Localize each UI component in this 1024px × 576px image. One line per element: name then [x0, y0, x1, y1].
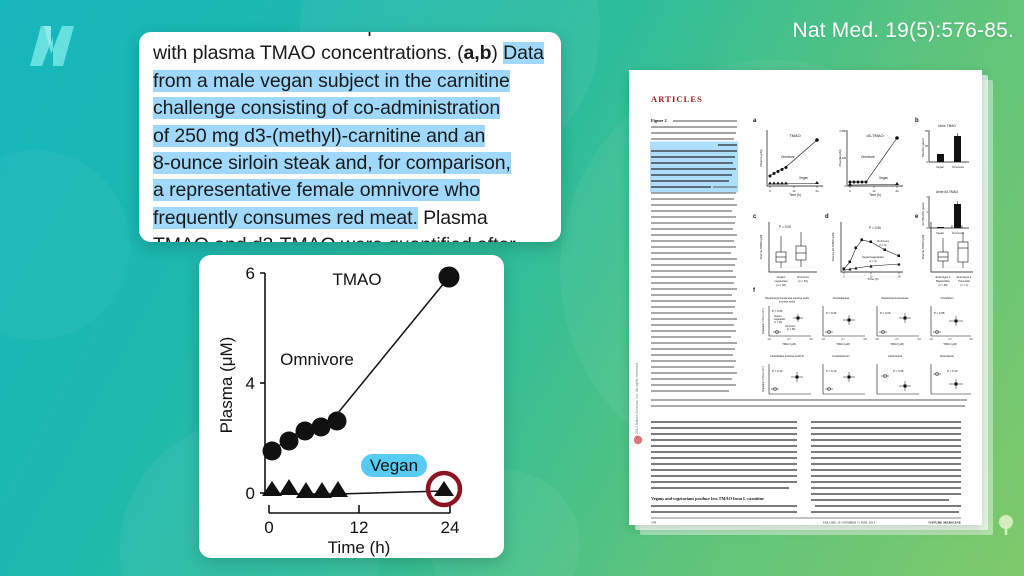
caption-text-lines-cont [651, 187, 737, 391]
bar-title: Urine TMAO [938, 124, 956, 128]
taxon-label: Clostridiales incertae sedis XI [770, 354, 804, 358]
svg-text:Bacteroides: Bacteroides [936, 279, 950, 283]
y-axis [260, 273, 265, 493]
data-point [328, 412, 347, 431]
subplot-title: TMAO [789, 133, 801, 138]
svg-text:24: 24 [898, 275, 901, 279]
svg-text:Vegan: Vegan [936, 231, 944, 235]
caption-text-lines [651, 121, 737, 139]
panel-c: c Plasma TMAO (μM) P = 0.05 Vegan/vegeta… [753, 214, 817, 287]
data-point [296, 422, 315, 441]
svg-text:Prevotella: Prevotella [958, 279, 970, 283]
x-tick: 0 [264, 518, 273, 537]
panel-label-a: a [753, 118, 757, 124]
svg-text:(n = 26): (n = 26) [776, 283, 786, 287]
x-tick: 24 [441, 518, 460, 537]
svg-text:Omnivore: Omnivore [952, 231, 965, 235]
x-tick: 12 [350, 518, 369, 537]
p-value: P = 0.08 [934, 311, 945, 315]
caption-line: of 250 mg d3-(methyl)-carnitine and an [153, 123, 547, 150]
panel-label-b: b [915, 118, 919, 124]
slide-canvas: Nat Med. 19(5):576-85. and fecal microbi… [0, 0, 1024, 576]
x-axis-label: Time (h) [328, 538, 391, 557]
taxon-label: Peptostreptococcaceae incertae sedis [765, 296, 810, 300]
svg-text:0.125: 0.125 [840, 156, 847, 160]
y-label: Plasma (µM) [759, 149, 763, 166]
zoomed-caption-text: and fecal microbiota composition associa… [139, 32, 561, 242]
body-column-right [811, 422, 961, 512]
taxon-label: Clostridiaceae [833, 296, 850, 300]
x-label: Time (h) [789, 193, 801, 197]
publisher-seal-icon [634, 436, 642, 444]
y-tick: 0 [246, 484, 255, 503]
x-tick-labels: 0 12 24 [264, 518, 459, 537]
y-tick: 6 [246, 264, 255, 283]
svg-text:2: 2 [927, 195, 929, 199]
svg-text:Enterotype 1: Enterotype 1 [936, 275, 951, 279]
figure-label: Figure 2 [651, 118, 667, 123]
data-point-highlighted [434, 481, 454, 496]
series-label-omnivore: Omnivore [781, 155, 795, 159]
caption-highlight [650, 142, 738, 193]
y-label: Plasma TMAO (μM) [759, 235, 763, 260]
panel-d: d Plasma d3-TMAO (µM) Time (h) P = 0.06 [825, 214, 903, 281]
taxon-label: Lachnospira [888, 354, 903, 358]
svg-text:0: 0 [927, 160, 929, 164]
svg-text:0: 0 [927, 226, 929, 230]
svg-text:(n = 51): (n = 51) [798, 279, 808, 283]
svg-text:3.6: 3.6 [917, 338, 921, 341]
svg-text:24: 24 [895, 189, 899, 193]
tree-icon [996, 513, 1016, 537]
p-value: P = 0.05 [779, 225, 791, 229]
y-label: Plasma TMAO (μM) [921, 235, 925, 260]
svg-text:(n = 68): (n = 68) [938, 283, 947, 287]
svg-text:Plasma d3-TMAO (µM): Plasma d3-TMAO (µM) [831, 233, 835, 262]
p-value: P = 0.13 [772, 369, 783, 373]
vegan-label: Vegan [370, 456, 418, 475]
data-point [280, 432, 299, 451]
svg-text:0: 0 [769, 189, 771, 193]
footer-journal: NATURE MEDICINE [928, 521, 961, 525]
panel-label-d: d [825, 214, 829, 220]
y-tick: 4 [246, 374, 255, 393]
bar-title: Urine d3-TMAO [936, 190, 959, 194]
p-value: P = 0.06 [893, 369, 904, 373]
caption-line: challenge consisting of co-administratio… [153, 95, 547, 122]
svg-text:24: 24 [815, 189, 819, 193]
svg-text:0: 0 [843, 275, 845, 279]
vegan-markers [262, 479, 454, 498]
x-label: TMAO (μM) [943, 342, 957, 346]
x-axis [269, 505, 450, 513]
svg-text:50: 50 [925, 129, 928, 133]
axes [847, 130, 903, 186]
svg-text:Omnivore: Omnivore [861, 155, 875, 159]
decorative-circle [0, 150, 130, 340]
svg-text:Proportion OTUs (×10⁻²): Proportion OTUs (×10⁻²) [762, 366, 765, 393]
x-label: TMAO (μM) [890, 342, 904, 346]
x-label: Time (h) [869, 193, 881, 197]
journal-page-content: ARTICLES © 2013 Nature America, Inc. All… [629, 70, 982, 525]
x-label: TMAO (μM) [836, 342, 850, 346]
tmao-line-chart: 6 4 0 0 12 24 Plasma (μM) Time (h) TMAO [199, 255, 504, 558]
svg-text:0.250: 0.250 [840, 129, 847, 133]
svg-text:(n = 5): (n = 5) [879, 243, 887, 247]
svg-text:d3-TMAO/Cr (µmol): d3-TMAO/Cr (µmol) [921, 202, 925, 225]
svg-text:2.7: 2.7 [787, 338, 791, 341]
svg-text:(n = 38): (n = 38) [787, 328, 796, 331]
svg-text:25: 25 [925, 144, 928, 148]
series-label-vegan: Vegan [799, 176, 808, 180]
taxon-label: Fusobacterium [832, 354, 849, 358]
data-point [328, 481, 348, 497]
p-value: P = 0.06 [826, 311, 837, 315]
y-tick-labels: 6 4 0 [246, 264, 255, 503]
copyright-margin-text: © 2013 Nature America, Inc. All rights r… [635, 362, 639, 438]
caption-line: a representative female omnivore who [153, 177, 547, 204]
p-value: P = 0.06 [880, 311, 891, 315]
svg-text:2.7: 2.7 [895, 338, 899, 341]
svg-text:1.8: 1.8 [767, 338, 771, 341]
nature-n-logo [24, 20, 80, 72]
p-value: P = 0.10 [947, 369, 958, 373]
svg-text:0: 0 [845, 184, 847, 188]
caption-footer-lines [651, 400, 967, 406]
chart-title: TMAO [332, 270, 381, 289]
caption-line: 8-ounce sirloin steak and, for compariso… [153, 150, 547, 177]
svg-text:1.8: 1.8 [875, 338, 879, 341]
x-label: TMAO (μM) [782, 342, 796, 346]
svg-text:0: 0 [849, 189, 851, 193]
caption-line: frequently consumes red meat. Plasma [153, 205, 547, 232]
caption-line: from a male vegan subject in the carniti… [153, 68, 547, 95]
svg-text:Omnivore: Omnivore [952, 165, 965, 169]
svg-text:3.6: 3.6 [863, 338, 867, 341]
panel-label-c: c [753, 214, 757, 220]
svg-text:3.6: 3.6 [969, 338, 973, 341]
svg-text:Proportion OTUs (×10⁻²): Proportion OTUs (×10⁻²) [762, 308, 765, 335]
svg-text:3.6: 3.6 [809, 338, 813, 341]
citation-text: Nat Med. 19(5):576-85. [792, 19, 1014, 43]
svg-text:Vegan/vegetarian: Vegan/vegetarian [862, 255, 884, 259]
svg-text:(n = 5): (n = 5) [869, 259, 877, 263]
zoomed-caption-card: and fecal microbiota composition associa… [139, 32, 561, 242]
svg-text:12: 12 [792, 189, 796, 193]
p-value: P = 0.05 [772, 309, 783, 313]
panel-b: b Urine TMAO TMAO/Cr (µmol) VeganOmnivor… [915, 118, 969, 235]
body-text-columns: Vegans and vegetarians produce less TMAO… [651, 422, 961, 512]
data-point [296, 482, 316, 498]
body-column-left-cont [651, 506, 797, 512]
svg-text:(n = 26): (n = 26) [774, 321, 783, 324]
omnivore-label: Omnivore [280, 350, 354, 369]
running-head: ARTICLES [651, 94, 703, 104]
taxon-label: Sporobacter [940, 354, 954, 358]
caption-line-clipped-bottom: TMAO and d3-TMAO were quantified after [153, 232, 547, 242]
tmao-chart-card: 6 4 0 0 12 24 Plasma (μM) Time (h) TMAO [199, 255, 504, 558]
caption-line-clipped-top: and fecal microbiota composition associa… [153, 32, 547, 40]
svg-text:1: 1 [927, 210, 929, 214]
p-value: P = 0.13 [826, 369, 837, 373]
svg-text:2.7: 2.7 [948, 338, 952, 341]
y-axis-label: Plasma (μM) [217, 337, 236, 434]
svg-text:12: 12 [872, 189, 876, 193]
vegan-label-badge: Vegan [361, 454, 427, 477]
figure-caption-column: Figure 2 [650, 118, 967, 406]
svg-text:Enterotype 2: Enterotype 2 [957, 275, 972, 279]
panel-label-f: f [753, 288, 756, 294]
footer-volume: VOLUME 19 | NUMBER 5 | MAY 2013 [823, 521, 876, 525]
data-point [279, 479, 299, 495]
svg-text:incertae sedis: incertae sedis [779, 300, 796, 304]
svg-text:Vegan: Vegan [936, 165, 944, 169]
p-value: P = 0.06 [951, 225, 963, 229]
svg-text:Omnivore: Omnivore [877, 239, 890, 243]
panel-a: a TMAO Plasma (µM) Time (h) Omnivore [753, 118, 903, 197]
panel-label-e: e [915, 214, 919, 220]
svg-text:2.7: 2.7 [841, 338, 845, 341]
journal-page[interactable]: ARTICLES © 2013 Nature America, Inc. All… [629, 70, 982, 525]
taxon-label: Peptostreptococcaceae [881, 296, 909, 300]
data-point [439, 267, 460, 288]
svg-text:(n = 4): (n = 4) [960, 283, 968, 287]
section-heading: Vegans and vegetarians produce less TMAO… [651, 496, 764, 501]
subplot-title: d3-TMAO [866, 133, 883, 138]
svg-text:1.8: 1.8 [821, 338, 825, 341]
panel-f: f Peptostreptococcaceae incertae sedis i… [753, 288, 973, 394]
caption-line: with plasma TMAO concentrations. (a,b) D… [153, 40, 547, 67]
footer-page: 578 [651, 521, 656, 525]
body-column-left [651, 422, 797, 488]
axes [767, 130, 823, 186]
svg-text:1.8: 1.8 [929, 338, 933, 341]
data-point [263, 442, 282, 461]
svg-text:Vegan: Vegan [879, 176, 888, 180]
p-value: P = 0.06 [869, 226, 881, 230]
taxon-label: Clostridium [941, 296, 954, 300]
